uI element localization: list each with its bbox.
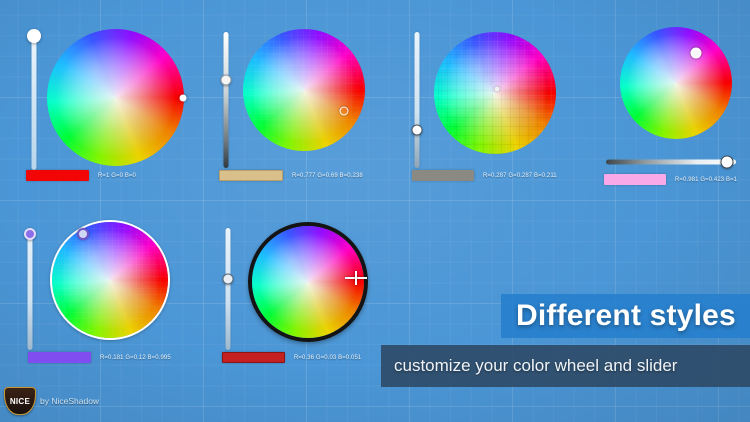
slider-knob[interactable] xyxy=(720,156,733,169)
nice-shield-icon: NICE xyxy=(4,387,36,415)
brightness-slider-vertical-1[interactable] xyxy=(28,30,40,170)
color-readout-3: R=0.287 G=0.287 B=0.211 xyxy=(412,170,612,181)
slider-track[interactable] xyxy=(224,32,229,168)
wheel-shading xyxy=(243,29,365,151)
page-subtitle: customize your color wheel and slider xyxy=(381,356,677,376)
color-readout-1: R=1 G=0 B=0 xyxy=(26,170,196,181)
slider-track[interactable] xyxy=(32,30,37,170)
wheel-cursor-crosshair[interactable] xyxy=(345,271,367,285)
watermark-badge-label: NICE xyxy=(10,397,30,406)
wheel-shading xyxy=(620,27,732,139)
color-wheel-2[interactable] xyxy=(243,29,365,151)
color-wheel-5[interactable] xyxy=(50,220,170,340)
color-wheel-4[interactable] xyxy=(620,27,732,139)
brightness-slider-vertical-6[interactable] xyxy=(222,228,234,350)
slider-knob[interactable] xyxy=(221,74,232,85)
rgb-value-label-4: R=0.981 G=0.423 B=1 xyxy=(675,177,737,183)
slider-track[interactable] xyxy=(226,228,231,350)
crosshair-vertical xyxy=(355,271,357,285)
wheel-shading xyxy=(52,222,168,338)
color-swatch-5 xyxy=(28,352,91,363)
color-wheel-6[interactable] xyxy=(248,222,368,342)
color-swatch-1 xyxy=(26,170,89,181)
color-readout-2: R=0.777 G=0.69 B=0.238 xyxy=(219,170,409,181)
color-swatch-2 xyxy=(219,170,283,181)
rgb-value-label-6: R=0.36 G=0.03 B=0.051 xyxy=(294,355,361,361)
subtitle-banner: customize your color wheel and slider xyxy=(381,345,750,387)
watermark: NICE by NiceShadow xyxy=(4,386,122,416)
brightness-slider-vertical-3[interactable] xyxy=(411,32,423,168)
brightness-slider-horizontal-4[interactable] xyxy=(606,156,736,168)
wheel-cursor-dot[interactable] xyxy=(179,94,186,101)
title-banner: Different styles xyxy=(501,294,750,338)
color-readout-5: R=0.181 G=0.12 B=0.995 xyxy=(28,352,218,363)
brightness-slider-vertical-5[interactable] xyxy=(24,228,36,350)
color-swatch-6 xyxy=(222,352,285,363)
slider-knob[interactable] xyxy=(223,274,234,285)
slider-track[interactable] xyxy=(606,160,736,165)
wheel-shading xyxy=(47,29,184,166)
watermark-by-label: by NiceShadow xyxy=(40,396,99,406)
brightness-slider-vertical-2[interactable] xyxy=(220,32,232,168)
slider-knob[interactable] xyxy=(24,228,36,240)
wheel-cursor-ring[interactable] xyxy=(77,228,89,240)
rgb-value-label-3: R=0.287 G=0.287 B=0.211 xyxy=(483,173,557,179)
wheel-cursor-ring[interactable] xyxy=(691,47,702,58)
slider-knob[interactable] xyxy=(27,29,41,43)
wheel-cursor-dot[interactable] xyxy=(495,87,500,92)
slider-track[interactable] xyxy=(28,228,33,350)
color-swatch-3 xyxy=(412,170,474,181)
color-wheel-3[interactable] xyxy=(434,32,556,154)
rgb-value-label-1: R=1 G=0 B=0 xyxy=(98,173,136,179)
page-title: Different styles xyxy=(501,299,736,333)
wheel-shading xyxy=(434,32,556,154)
color-wheel-1[interactable] xyxy=(47,29,184,166)
color-readout-4: R=0.981 G=0.423 B=1 xyxy=(604,174,750,185)
rgb-value-label-5: R=0.181 G=0.12 B=0.995 xyxy=(100,355,171,361)
color-swatch-4 xyxy=(604,174,666,185)
rgb-value-label-2: R=0.777 G=0.69 B=0.238 xyxy=(292,173,363,179)
slider-knob[interactable] xyxy=(412,124,423,135)
wheel-cursor-ring[interactable] xyxy=(340,106,349,115)
slider-track[interactable] xyxy=(415,32,420,168)
